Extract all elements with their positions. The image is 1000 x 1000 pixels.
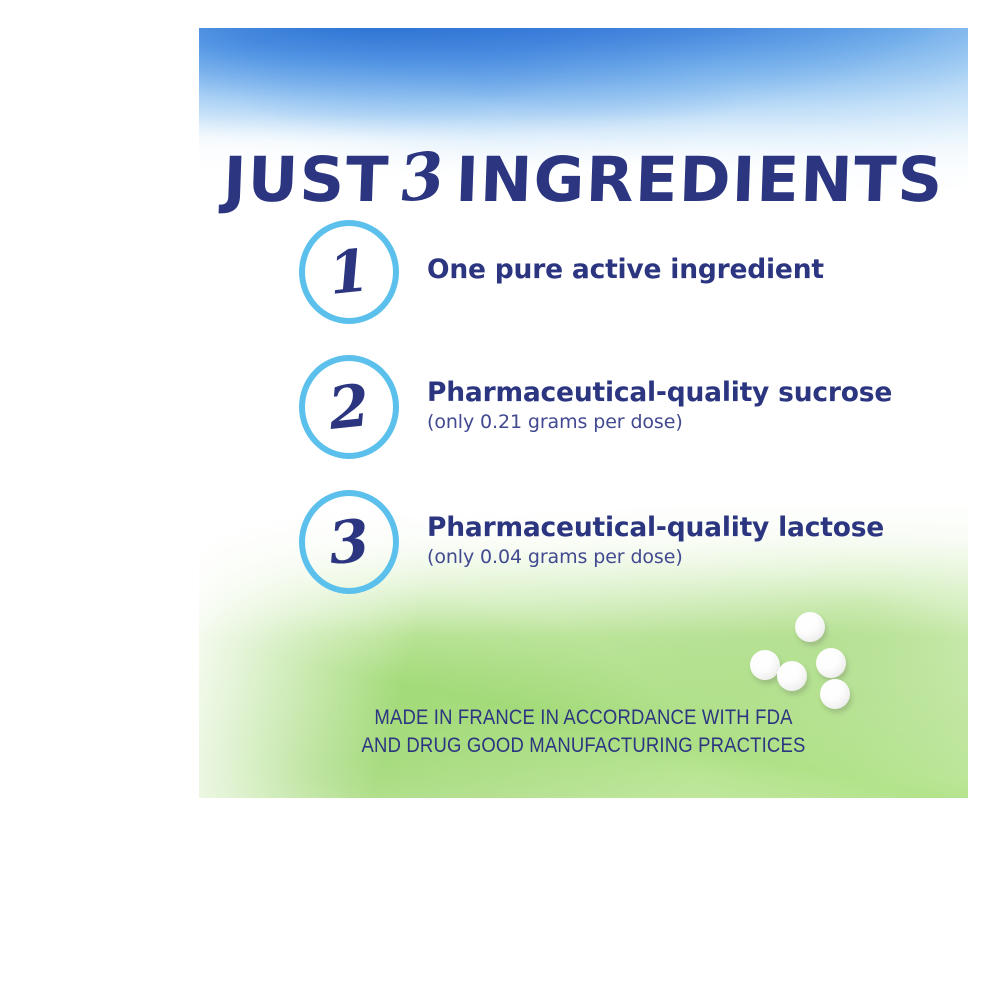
number-badge-circle-icon: 1 [299, 220, 399, 324]
ingredient-subtext: (only 0.21 grams per dose) [427, 411, 932, 435]
infographic-canvas: JUST3INGREDIENTS 1 One pure active ingre… [0, 0, 1000, 1000]
number-badge-circle-icon: 3 [299, 490, 399, 594]
pellet [816, 648, 846, 678]
ingredient-heading: Pharmaceutical-quality sucrose [427, 377, 932, 408]
footer-line-two: AND DRUG GOOD MANUFACTURING PRACTICES [245, 732, 922, 760]
manufacturing-statement: MADE IN FRANCE IN ACCORDANCE WITH FDA AN… [245, 704, 922, 759]
list-item-text: Pharmaceutical-quality sucrose (only 0.2… [427, 377, 932, 435]
ingredients-list: 1 One pure active ingredient 2 Pharmaceu… [299, 220, 939, 625]
ingredient-heading: Pharmaceutical-quality lactose [427, 512, 932, 543]
title-number: 3 [397, 143, 448, 212]
pellet [777, 661, 807, 691]
page-title: JUST3INGREDIENTS [199, 148, 968, 212]
badge-number: 2 [300, 357, 397, 458]
list-item-text: One pure active ingredient [427, 254, 932, 285]
badge-number: 3 [300, 492, 397, 593]
list-item: 2 Pharmaceutical-quality sucrose (only 0… [299, 355, 939, 490]
title-part-two: INGREDIENTS [455, 149, 945, 211]
number-badge-circle-icon: 2 [299, 355, 399, 459]
list-item-text: Pharmaceutical-quality lactose (only 0.0… [427, 512, 932, 570]
footer-line-one: MADE IN FRANCE IN ACCORDANCE WITH FDA [245, 704, 922, 732]
list-item: 3 Pharmaceutical-quality lactose (only 0… [299, 490, 939, 625]
badge-number: 1 [300, 222, 397, 323]
pellet [750, 650, 780, 680]
ingredient-heading: One pure active ingredient [427, 254, 932, 285]
ingredient-subtext: (only 0.04 grams per dose) [427, 546, 932, 570]
list-item: 1 One pure active ingredient [299, 220, 939, 355]
title-part-one: JUST [222, 149, 391, 211]
artwork-panel: JUST3INGREDIENTS 1 One pure active ingre… [199, 28, 968, 798]
